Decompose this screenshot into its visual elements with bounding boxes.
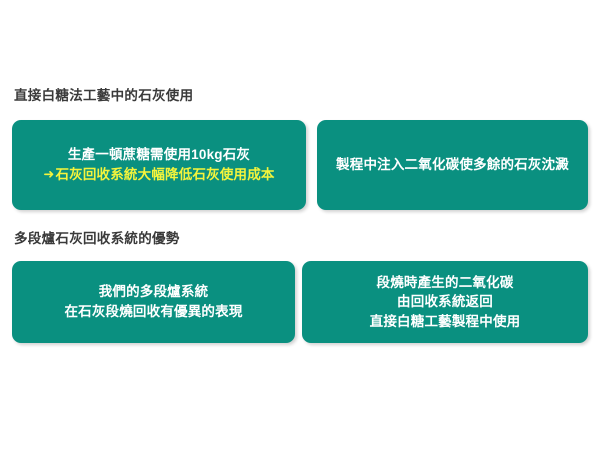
card-line-accent-label: 石灰回收系統大幅降低石灰使用成本: [55, 167, 274, 182]
card-line: 生產一頓蔗糖需使用10kg石灰: [68, 145, 250, 165]
card-line: 由回收系統返回: [397, 292, 493, 312]
slide-canvas: 直接白糖法工藝中的石灰使用 生產一頓蔗糖需使用10kg石灰 ➜石灰回收系統大幅降…: [0, 0, 600, 450]
arrow-right-icon: ➜: [43, 165, 54, 184]
section-heading-lime-usage: 直接白糖法工藝中的石灰使用: [14, 89, 193, 103]
card-msf-performance: 我們的多段爐系統 在石灰段燒回收有優異的表現: [12, 261, 295, 343]
card-co2-injection: 製程中注入二氧化碳使多餘的石灰沈澱: [317, 120, 588, 210]
section-heading-msf-advantages: 多段爐石灰回收系統的優勢: [14, 232, 180, 246]
card-line: 在石灰段燒回收有優異的表現: [64, 302, 242, 322]
card-line: 製程中注入二氧化碳使多餘的石灰沈澱: [336, 155, 569, 175]
card-lime-usage: 生產一頓蔗糖需使用10kg石灰 ➜石灰回收系統大幅降低石灰使用成本: [12, 120, 306, 210]
card-co2-recycle: 段燒時產生的二氧化碳 由回收系統返回 直接白糖工藝製程中使用: [302, 261, 588, 343]
card-line: 段燒時產生的二氧化碳: [377, 273, 514, 293]
card-line: 我們的多段爐系統: [99, 282, 209, 302]
card-line: 直接白糖工藝製程中使用: [370, 312, 521, 332]
card-line-accent: ➜石灰回收系統大幅降低石灰使用成本: [43, 165, 274, 185]
